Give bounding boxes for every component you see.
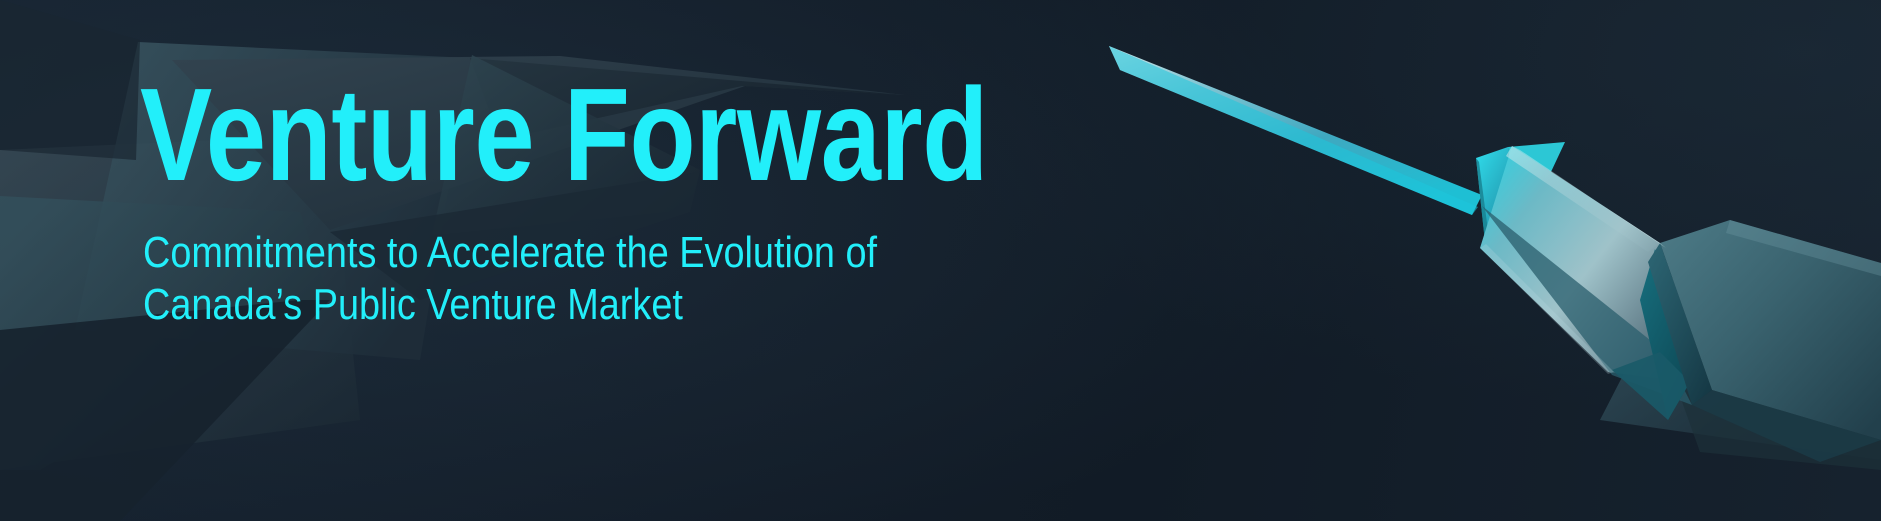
subtitle-line-1: Commitments to Accelerate the Evolution …	[143, 227, 1000, 278]
page-subtitle: Commitments to Accelerate the Evolution …	[143, 227, 1000, 330]
banner-text-block: Venture Forward Commitments to Accelerat…	[140, 70, 1140, 330]
page-title: Venture Forward	[140, 70, 960, 199]
venture-forward-banner: Venture Forward Commitments to Accelerat…	[0, 0, 1881, 521]
subtitle-line-2: Canada’s Public Venture Market	[143, 279, 1000, 330]
